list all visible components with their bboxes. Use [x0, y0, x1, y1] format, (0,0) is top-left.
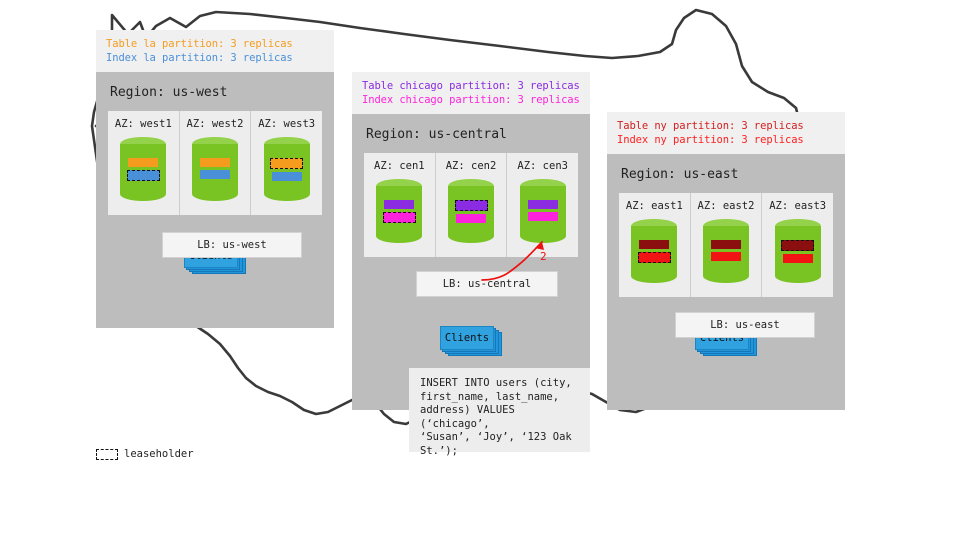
index-replica-band-leaseholder — [127, 170, 160, 181]
table-partition-line: Table la partition: 3 replicas — [106, 38, 324, 52]
az-cell-cen2[interactable]: AZ: cen2 — [436, 153, 508, 257]
cylinder-bottom — [775, 269, 821, 283]
load-balancer-us-west[interactable]: LB: us-west — [162, 232, 302, 258]
index-replica-band — [456, 214, 486, 223]
load-balancer-us-east[interactable]: LB: us-east — [675, 312, 815, 338]
az-cell-east2[interactable]: AZ: east2 — [691, 193, 763, 297]
cylinder-bottom — [703, 269, 749, 283]
az-row-us-central: AZ: cen1 AZ: cen2 — [364, 153, 578, 257]
table-replica-band-leaseholder — [270, 158, 303, 169]
region-card-us-central: Table chicago partition: 3 replicas Inde… — [352, 72, 590, 410]
index-replica-band — [200, 170, 230, 179]
partition-header-us-east: Table ny partition: 3 replicas Index ny … — [607, 112, 845, 154]
table-replica-band — [639, 240, 669, 249]
cylinder-bottom — [120, 187, 166, 201]
index-replica-band — [711, 252, 741, 261]
database-cylinder-east3[interactable] — [775, 219, 821, 283]
table-partition-line: Table chicago partition: 3 replicas — [362, 80, 580, 94]
index-replica-band — [528, 212, 558, 221]
index-replica-band — [272, 172, 302, 181]
replica-bands — [448, 200, 494, 223]
region-card-us-east: Table ny partition: 3 replicas Index ny … — [607, 112, 845, 410]
az-label: AZ: cen3 — [517, 160, 568, 172]
legend-leaseholder: leaseholder — [96, 448, 194, 460]
index-partition-line: Index la partition: 3 replicas — [106, 52, 324, 66]
database-cylinder-west2[interactable] — [192, 137, 238, 201]
replica-bands — [376, 200, 422, 223]
az-label: AZ: cen2 — [446, 160, 497, 172]
clients-button-us-central[interactable]: Clients — [440, 326, 502, 356]
az-label: AZ: west3 — [258, 118, 315, 130]
table-partition-line: Table ny partition: 3 replicas — [617, 120, 835, 134]
region-title: Region: us-east — [621, 167, 833, 182]
index-replica-band — [783, 254, 813, 263]
az-label: AZ: east2 — [698, 200, 755, 212]
region-card-us-west: Table la partition: 3 replicas Index la … — [96, 30, 334, 328]
az-cell-cen1[interactable]: AZ: cen1 — [364, 153, 436, 257]
cylinder-bottom — [520, 229, 566, 243]
cylinder-bottom — [448, 229, 494, 243]
sql-statement-callout: INSERT INTO users (city, first_name, las… — [409, 368, 590, 452]
az-label: AZ: cen1 — [374, 160, 425, 172]
region-title: Region: us-west — [110, 85, 322, 100]
az-row-us-west: AZ: west1 AZ: west2 — [108, 111, 322, 215]
partition-header-us-central: Table chicago partition: 3 replicas Inde… — [352, 72, 590, 114]
az-cell-west2[interactable]: AZ: west2 — [180, 111, 252, 215]
annotation-number-2: 2 — [540, 250, 547, 263]
az-cell-east3[interactable]: AZ: east3 — [762, 193, 833, 297]
replica-bands — [703, 240, 749, 261]
index-partition-line: Index ny partition: 3 replicas — [617, 134, 835, 148]
az-cell-east1[interactable]: AZ: east1 — [619, 193, 691, 297]
database-cylinder-west3[interactable] — [264, 137, 310, 201]
replica-bands — [631, 240, 677, 263]
cylinder-bottom — [192, 187, 238, 201]
database-cylinder-cen1[interactable] — [376, 179, 422, 243]
table-replica-band-leaseholder — [455, 200, 488, 211]
replica-bands — [192, 158, 238, 179]
az-cell-cen3[interactable]: AZ: cen3 — [507, 153, 578, 257]
az-cell-west1[interactable]: AZ: west1 — [108, 111, 180, 215]
cylinder-bottom — [631, 269, 677, 283]
table-replica-band — [200, 158, 230, 167]
replica-bands — [520, 200, 566, 221]
region-body-us-west: Region: us-west AZ: west1 AZ: — [96, 72, 334, 328]
index-replica-band-leaseholder — [383, 212, 416, 223]
database-cylinder-east1[interactable] — [631, 219, 677, 283]
partition-header-us-west: Table la partition: 3 replicas Index la … — [96, 30, 334, 72]
index-replica-band-leaseholder — [638, 252, 671, 263]
cylinder-bottom — [264, 187, 310, 201]
database-cylinder-cen2[interactable] — [448, 179, 494, 243]
az-label: AZ: east3 — [769, 200, 826, 212]
diagram-canvas: Table la partition: 3 replicas Index la … — [0, 0, 960, 540]
cylinder-bottom — [376, 229, 422, 243]
table-replica-band — [711, 240, 741, 249]
region-body-us-central: Region: us-central AZ: cen1 A — [352, 114, 590, 410]
az-row-us-east: AZ: east1 AZ: east2 — [619, 193, 833, 297]
region-body-us-east: Region: us-east AZ: east1 AZ: — [607, 154, 845, 410]
az-label: AZ: west1 — [115, 118, 172, 130]
region-title: Region: us-central — [366, 127, 578, 142]
table-replica-band — [384, 200, 414, 209]
replica-bands — [775, 240, 821, 263]
load-balancer-us-central[interactable]: LB: us-central — [416, 271, 558, 297]
clients-button-label[interactable]: Clients — [440, 326, 494, 350]
replica-bands — [120, 158, 166, 181]
az-cell-west3[interactable]: AZ: west3 — [251, 111, 322, 215]
index-partition-line: Index chicago partition: 3 replicas — [362, 94, 580, 108]
az-label: AZ: west2 — [187, 118, 244, 130]
replica-bands — [264, 158, 310, 181]
database-cylinder-west1[interactable] — [120, 137, 166, 201]
database-cylinder-cen3[interactable] — [520, 179, 566, 243]
database-cylinder-east2[interactable] — [703, 219, 749, 283]
table-replica-band — [528, 200, 558, 209]
table-replica-band-leaseholder — [781, 240, 814, 251]
dashed-rectangle-icon — [96, 449, 118, 460]
legend-label: leaseholder — [124, 448, 194, 460]
table-replica-band — [128, 158, 158, 167]
az-label: AZ: east1 — [626, 200, 683, 212]
